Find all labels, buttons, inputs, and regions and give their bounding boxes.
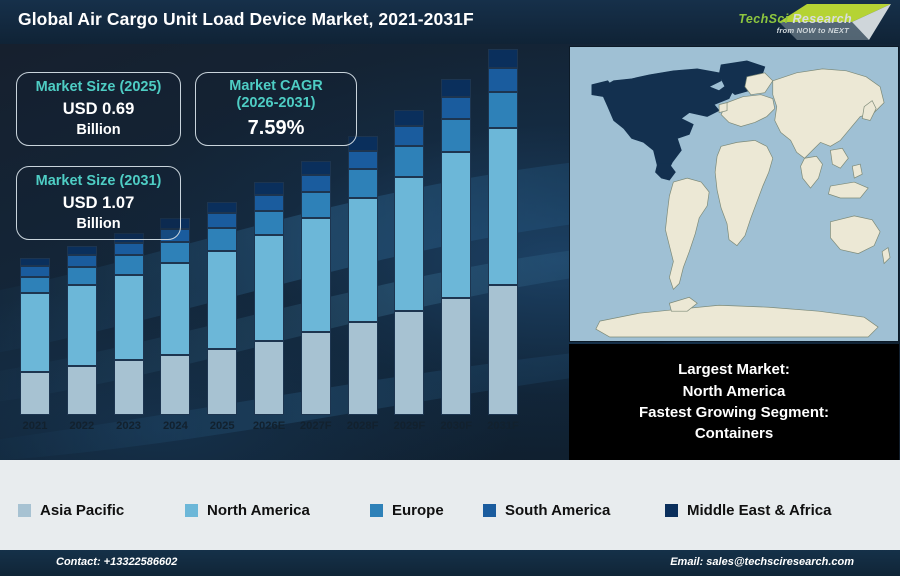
bar-segment-asia-pacific [160, 355, 190, 415]
logo-techsci: TechSci [738, 12, 788, 26]
bar-group [301, 161, 331, 415]
callout-fastest-segment-label: Fastest Growing Segment: [639, 402, 829, 423]
bar-segment-middle-east-africa [20, 258, 50, 266]
legend-swatch [18, 504, 31, 517]
legend-item[interactable]: South America [483, 502, 610, 519]
bar-segment-asia-pacific [394, 311, 424, 415]
page-title: Global Air Cargo Unit Load Device Market… [18, 9, 474, 30]
bar-segment-europe [207, 228, 237, 251]
legend-label: South America [505, 502, 610, 519]
bar-segment-asia-pacific [207, 349, 237, 415]
callout-fastest-segment-value: Containers [695, 423, 773, 444]
info-label-period: (2026-2031) [237, 95, 316, 112]
chart-legend: Asia PacificNorth AmericaEuropeSouth Ame… [0, 488, 900, 533]
bar-segment-asia-pacific [20, 372, 50, 415]
bar-segment-middle-east-africa [441, 79, 471, 97]
callout-box: Largest Market: North America Fastest Gr… [569, 344, 899, 460]
legend-label: Europe [392, 502, 444, 519]
footer-bar: Contact: +13322586602 Email: sales@techs… [0, 550, 900, 576]
legend-label: Middle East & Africa [687, 502, 831, 519]
bar-segment-north-america [441, 152, 471, 298]
info-label: Market Size (2031) [36, 173, 162, 190]
footer-contact: Contact: +13322586602 [56, 556, 177, 568]
bar-segment-europe [160, 242, 190, 263]
bar-segment-europe [488, 92, 518, 128]
bar-segment-asia-pacific [441, 298, 471, 415]
bar-group [114, 233, 144, 415]
bar-segment-south-america [114, 243, 144, 256]
x-axis-labels: 202120222023202420252026E2027F2028F2029F… [0, 420, 568, 440]
bar-segment-middle-east-africa [254, 182, 284, 195]
bar-segment-asia-pacific [254, 341, 284, 415]
legend-label: North America [207, 502, 310, 519]
info-box-market-cagr: Market CAGR (2026-2031) 7.59% [195, 72, 357, 146]
info-value: USD 0.69 [63, 99, 135, 120]
info-label: Market Size (2025) [36, 79, 162, 96]
bar-group [67, 246, 97, 415]
bar-segment-asia-pacific [114, 360, 144, 415]
x-axis-label: 2026E [246, 420, 292, 432]
x-axis-label: 2030F [433, 420, 479, 432]
legend-item[interactable]: Europe [370, 502, 444, 519]
bar-segment-north-america [301, 218, 331, 332]
bar-segment-middle-east-africa [207, 202, 237, 214]
logo-research: Research [789, 12, 852, 26]
info-label: Market CAGR [229, 78, 322, 95]
bar-segment-south-america [301, 175, 331, 192]
logo-wordmark: TechSci Research [738, 12, 852, 26]
bar-segment-middle-east-africa [394, 110, 424, 126]
bar-segment-north-america [67, 285, 97, 366]
legend-item[interactable]: Asia Pacific [18, 502, 124, 519]
infographic-page: Global Air Cargo Unit Load Device Market… [0, 0, 900, 576]
bar-segment-south-america [394, 126, 424, 146]
info-box-market-size-2031: Market Size (2031) USD 1.07 Billion [16, 166, 181, 240]
bar-segment-europe [301, 192, 331, 219]
bar-segment-south-america [254, 195, 284, 211]
info-value: 7.59% [248, 116, 305, 140]
bar-segment-south-america [488, 68, 518, 92]
bar-segment-asia-pacific [301, 332, 331, 415]
legend-swatch [665, 504, 678, 517]
bar-segment-europe [394, 146, 424, 177]
bar-group [20, 258, 50, 415]
bar-segment-north-america [207, 251, 237, 349]
info-unit: Billion [76, 216, 120, 233]
world-map [569, 46, 899, 342]
bar-segment-south-america [20, 266, 50, 277]
legend-item[interactable]: North America [185, 502, 310, 519]
x-axis-label: 2028F [340, 420, 386, 432]
callout-largest-market-value: North America [683, 381, 786, 402]
legend-item[interactable]: Middle East & Africa [665, 502, 831, 519]
bar-group [348, 136, 378, 415]
bar-segment-middle-east-africa [67, 246, 97, 255]
bar-segment-europe [67, 267, 97, 285]
bar-segment-europe [441, 119, 471, 152]
callout-largest-market-label: Largest Market: [678, 359, 790, 380]
bar-segment-south-america [67, 255, 97, 267]
bar-segment-asia-pacific [348, 322, 378, 415]
bar-segment-middle-east-africa [301, 161, 331, 175]
bar-group [160, 218, 190, 415]
bar-segment-north-america [394, 177, 424, 311]
bar-segment-north-america [160, 263, 190, 355]
bar-segment-asia-pacific [67, 366, 97, 415]
legend-swatch [370, 504, 383, 517]
x-axis-label: 2025 [199, 420, 245, 432]
info-unit: Billion [76, 122, 120, 139]
bar-segment-asia-pacific [488, 285, 518, 416]
x-axis-label: 2027F [293, 420, 339, 432]
bar-segment-north-america [254, 235, 284, 341]
techsci-research-logo: TechSci Research from NOW to NEXT [716, 0, 896, 44]
bar-group [394, 110, 424, 415]
bar-group [254, 182, 284, 415]
bar-group [207, 202, 237, 415]
bar-segment-north-america [348, 198, 378, 322]
bar-segment-north-america [488, 128, 518, 285]
bar-segment-europe [20, 277, 50, 293]
legend-swatch [483, 504, 496, 517]
bar-segment-south-america [348, 151, 378, 170]
bar-segment-south-america [207, 213, 237, 228]
x-axis-label: 2022 [59, 420, 105, 432]
footer-email: Email: sales@techsciresearch.com [670, 556, 854, 568]
bar-segment-europe [348, 169, 378, 198]
legend-swatch [185, 504, 198, 517]
world-map-svg [570, 47, 898, 341]
bar-segment-europe [114, 255, 144, 274]
bar-segment-middle-east-africa [488, 49, 518, 68]
x-axis-label: 2031F [480, 420, 526, 432]
header-bar: Global Air Cargo Unit Load Device Market… [0, 0, 900, 44]
bar-segment-south-america [441, 97, 471, 119]
bar-segment-north-america [114, 275, 144, 361]
bar-segment-north-america [20, 293, 50, 371]
legend-label: Asia Pacific [40, 502, 124, 519]
info-value: USD 1.07 [63, 193, 135, 214]
bar-group [441, 79, 471, 415]
x-axis-label: 2029F [386, 420, 432, 432]
x-axis-label: 2023 [106, 420, 152, 432]
bar-segment-europe [254, 211, 284, 236]
x-axis-label: 2021 [12, 420, 58, 432]
bar-group [488, 49, 518, 415]
map-region-uk [719, 103, 727, 113]
x-axis-label: 2024 [152, 420, 198, 432]
logo-tagline: from NOW to NEXT [777, 26, 849, 35]
info-box-market-size-2025: Market Size (2025) USD 0.69 Billion [16, 72, 181, 146]
